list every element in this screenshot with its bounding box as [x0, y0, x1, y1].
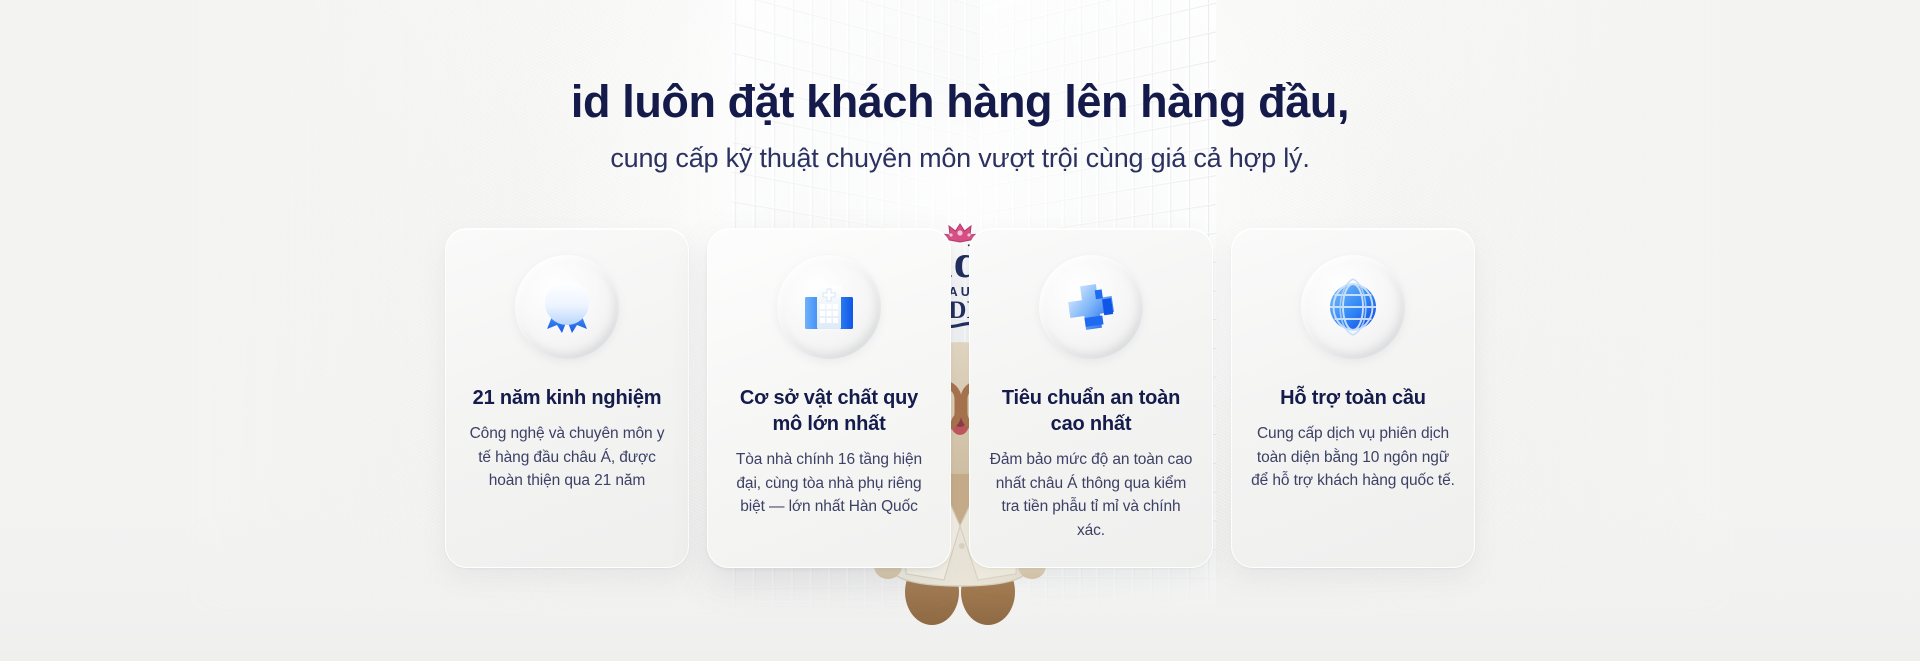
feature-card-global-support[interactable]: Hỗ trợ toàn cầu Cung cấp dịch vụ phiên d…	[1231, 228, 1475, 568]
feature-card-facility[interactable]: Cơ sở vật chất quy mô lớn nhất Tòa nhà c…	[707, 228, 951, 568]
page-subtitle: cung cấp kỹ thuật chuyên môn vượt trội c…	[0, 143, 1920, 174]
card-description: Đảm bảo mức độ an toàn cao nhất châu Á t…	[986, 448, 1196, 542]
hospital-building-icon	[777, 255, 881, 359]
feature-card-list: 21 năm kinh nghiệm Công nghệ và chuyên m…	[0, 228, 1920, 568]
card-title: Hỗ trợ toàn cầu	[1280, 385, 1426, 411]
page-title: id luôn đặt khách hàng lên hàng đầu,	[0, 76, 1920, 128]
card-description: Cung cấp dịch vụ phiên dịch toàn diện bằ…	[1248, 422, 1458, 493]
hero-heading-block: id luôn đặt khách hàng lên hàng đầu, cun…	[0, 76, 1920, 174]
card-title: 21 năm kinh nghiệm	[473, 385, 662, 411]
card-description: Công nghệ và chuyên môn y tế hàng đầu ch…	[462, 422, 672, 493]
card-description: Tòa nhà chính 16 tầng hiện đại, cùng tòa…	[724, 448, 934, 519]
medical-cross-icon	[1039, 255, 1143, 359]
card-title: Cơ sở vật chất quy mô lớn nhất	[724, 385, 934, 437]
feature-card-experience[interactable]: 21 năm kinh nghiệm Công nghệ và chuyên m…	[445, 228, 689, 568]
feature-card-safety[interactable]: Tiêu chuẩn an toàn cao nhất Đảm bảo mức …	[969, 228, 1213, 568]
globe-icon	[1301, 255, 1405, 359]
card-title: Tiêu chuẩn an toàn cao nhất	[986, 385, 1196, 437]
award-ribbon-icon	[515, 255, 619, 359]
